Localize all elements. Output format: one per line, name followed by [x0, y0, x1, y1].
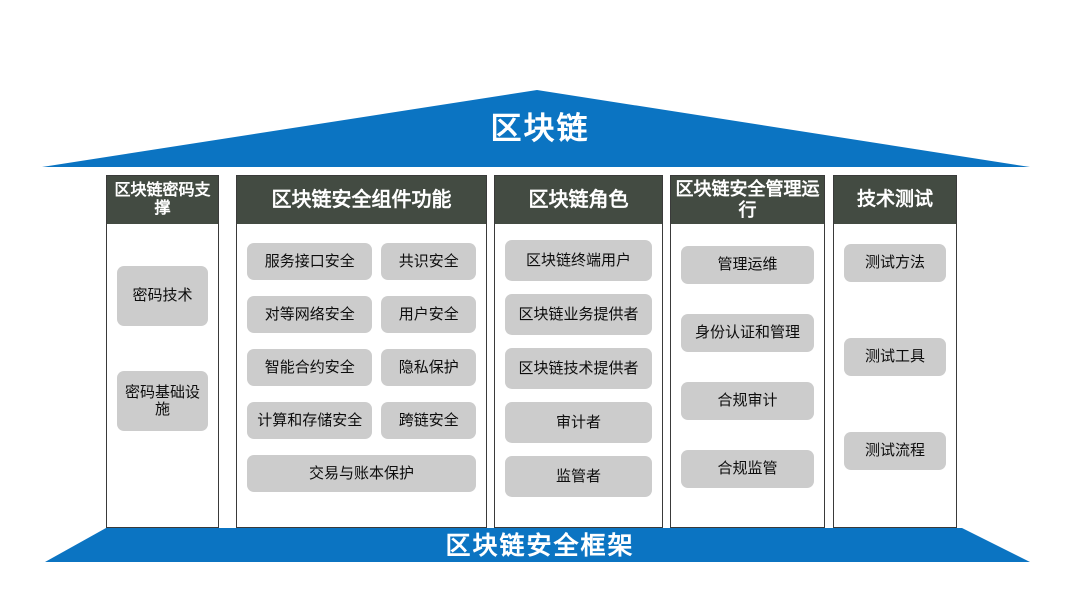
chip-item[interactable]: 测试方法: [844, 244, 946, 282]
chip-item[interactable]: 智能合约安全: [247, 349, 372, 386]
base-title: 区块链安全框架: [0, 532, 1080, 560]
chip-item[interactable]: 管理运维: [681, 246, 814, 284]
chip-row: 服务接口安全 共识安全: [247, 243, 476, 280]
chip-item[interactable]: 隐私保护: [381, 349, 476, 386]
chip-item[interactable]: 合规监管: [681, 450, 814, 488]
diagram-canvas: 区块链 区块链密码支撑 密码技术 密码基础设施 区块链安全组件功能 服务接口安全…: [0, 0, 1080, 608]
pillars-group: 区块链密码支撑 密码技术 密码基础设施 区块链安全组件功能 服务接口安全 共识安…: [0, 175, 1080, 529]
chip-row: 智能合约安全 隐私保护: [247, 349, 476, 386]
pillar-body-technical-testing: 测试方法 测试工具 测试流程: [834, 224, 956, 527]
chip-item[interactable]: 审计者: [505, 402, 652, 443]
pillar-header-blockchain-roles: 区块链角色: [495, 176, 662, 224]
pillar-header-blockchain-security-component-functions: 区块链安全组件功能: [237, 176, 486, 224]
chip-item[interactable]: 密码基础设施: [117, 371, 208, 431]
pillar-header-technical-testing: 技术测试: [834, 176, 956, 224]
chip-row: 计算和存储安全 跨链安全: [247, 402, 476, 439]
chip-row: 交易与账本保护: [247, 455, 476, 492]
pillar-body-blockchain-roles: 区块链终端用户 区块链业务提供者 区块链技术提供者 审计者 监管者: [495, 224, 662, 527]
pillar-blockchain-security-management-operation[interactable]: 区块链安全管理运行 管理运维 身份认证和管理 合规审计 合规监管: [670, 175, 825, 528]
pillar-body-blockchain-security-component-functions: 服务接口安全 共识安全 对等网络安全 用户安全 智能合约安全 隐私保护 计算和存…: [237, 224, 486, 527]
chip-item[interactable]: 对等网络安全: [247, 296, 372, 333]
pillar-blockchain-roles[interactable]: 区块链角色 区块链终端用户 区块链业务提供者 区块链技术提供者 审计者 监管者: [494, 175, 663, 528]
pillar-header-blockchain-crypto-support: 区块链密码支撑: [107, 176, 218, 224]
pillar-header-blockchain-security-management-operation: 区块链安全管理运行: [671, 176, 824, 224]
chip-item[interactable]: 计算和存储安全: [247, 402, 372, 439]
chip-row: 对等网络安全 用户安全: [247, 296, 476, 333]
chip-item[interactable]: 用户安全: [381, 296, 476, 333]
roof-title: 区块链: [0, 112, 1080, 146]
chip-item[interactable]: 密码技术: [117, 266, 208, 326]
chip-item[interactable]: 测试流程: [844, 432, 946, 470]
pillar-body-blockchain-security-management-operation: 管理运维 身份认证和管理 合规审计 合规监管: [671, 224, 824, 527]
chip-item[interactable]: 共识安全: [381, 243, 476, 280]
chip-item[interactable]: 测试工具: [844, 338, 946, 376]
pillar-blockchain-crypto-support[interactable]: 区块链密码支撑 密码技术 密码基础设施: [106, 175, 219, 528]
pillar-blockchain-security-component-functions[interactable]: 区块链安全组件功能 服务接口安全 共识安全 对等网络安全 用户安全 智能合约安全…: [236, 175, 487, 528]
pillar-body-blockchain-crypto-support: 密码技术 密码基础设施: [107, 224, 218, 527]
chip-item[interactable]: 身份认证和管理: [681, 314, 814, 352]
chip-item[interactable]: 区块链终端用户: [505, 240, 652, 281]
chip-item[interactable]: 区块链业务提供者: [505, 294, 652, 335]
chip-item[interactable]: 跨链安全: [381, 402, 476, 439]
chip-item[interactable]: 合规审计: [681, 382, 814, 420]
base-group: 区块链安全框架: [0, 520, 1080, 572]
chip-item[interactable]: 区块链技术提供者: [505, 348, 652, 389]
chip-item[interactable]: 交易与账本保护: [247, 455, 476, 492]
pillar-technical-testing[interactable]: 技术测试 测试方法 测试工具 测试流程: [833, 175, 957, 528]
roof-group: 区块链: [0, 60, 1080, 170]
chip-item[interactable]: 监管者: [505, 456, 652, 497]
chip-item[interactable]: 服务接口安全: [247, 243, 372, 280]
